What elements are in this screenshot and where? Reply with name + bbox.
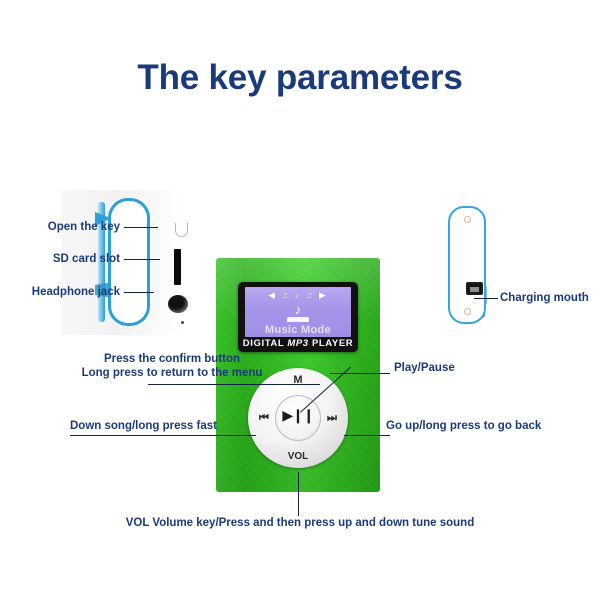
charging-port-icon [466, 282, 483, 295]
label-play-pause: Play/Pause [394, 361, 455, 375]
lcd-screen: ◀ ♫ ♪ ♫ ▶ ♪ Music Mode [245, 287, 351, 337]
leader-headphone-jack [124, 292, 154, 293]
leader-open-the-key [124, 227, 158, 228]
label-confirm-button-line2: Long press to return to the menu [52, 366, 292, 380]
brand-line: DIGITAL MP3 PLAYER [238, 338, 358, 349]
label-volume: VOL Volume key/Press and then press up a… [100, 516, 500, 530]
screen-bezel: ◀ ♫ ♪ ♫ ▶ ♪ Music Mode DIGITAL MP3 PLAYE… [238, 282, 358, 352]
label-charging-mouth: Charging mouth [500, 291, 589, 305]
infographic-canvas: The key parameters Open the key SD card … [0, 0, 600, 600]
leader-volume [298, 472, 299, 516]
leader-charging-mouth [474, 298, 498, 299]
label-open-the-key: Open the key [8, 220, 120, 234]
play-pause-icon: ▶❙❙ [248, 407, 348, 424]
label-down-song: Down song/long press fast [70, 419, 217, 433]
music-note-icon: ♪ [245, 303, 351, 317]
label-sd-card-slot: SD card slot [8, 252, 120, 266]
music-pedestal-icon [287, 317, 309, 322]
right-side-view-panel [440, 200, 510, 330]
label-headphone-jack: Headphone jack [2, 285, 120, 299]
leader-sd-card-slot [124, 259, 160, 260]
label-confirm-button-line1: Press the confirm button [52, 352, 292, 366]
lcd-navigation-icons: ◀ ♫ ♪ ♫ ▶ [245, 290, 351, 301]
brand-player: PLAYER [312, 338, 353, 349]
leader-go-up [344, 435, 390, 436]
leader-confirm-button [148, 384, 320, 385]
page-title: The key parameters [0, 58, 600, 98]
brand-mp3: MP3 [287, 338, 308, 349]
sd-card-slot-icon [174, 249, 181, 285]
leader-play-pause [330, 373, 390, 374]
leader-down-song [70, 435, 256, 436]
brand-digital: DIGITAL [243, 338, 284, 349]
screw-bottom-icon [464, 308, 471, 315]
device-right-profile [448, 206, 486, 324]
open-key-notch-icon [175, 223, 188, 237]
lcd-mode-caption: Music Mode [245, 324, 351, 336]
screw-dot-icon [181, 321, 184, 324]
screw-top-icon [464, 216, 471, 223]
headphone-jack-icon [168, 295, 188, 313]
label-go-up: Go up/long press to go back [386, 419, 541, 433]
volume-button[interactable]: VOL [248, 451, 348, 462]
